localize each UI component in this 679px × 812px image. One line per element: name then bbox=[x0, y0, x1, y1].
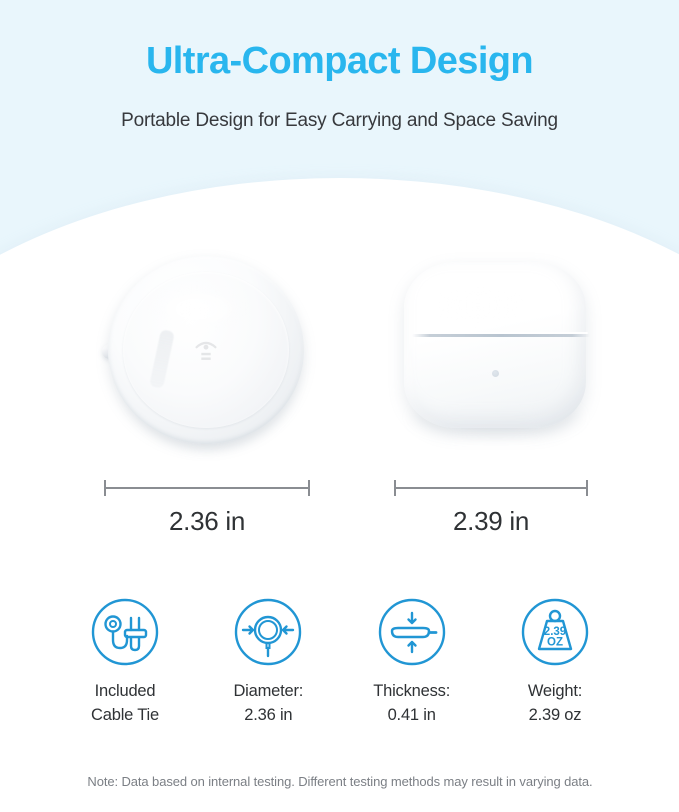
feature-label-line2: Cable Tie bbox=[91, 704, 159, 728]
feature-item-diameter: Diameter: 2.36 in bbox=[203, 596, 333, 728]
dimension-charger-width: 2.36 in bbox=[104, 480, 310, 540]
feature-label-line1: Thickness: bbox=[373, 680, 450, 704]
dimension-case-width: 2.39 in bbox=[394, 480, 588, 540]
feature-item-thickness: Thickness: 0.41 in bbox=[347, 596, 477, 728]
thickness-icon bbox=[376, 596, 448, 668]
wireless-charging-pad bbox=[108, 250, 308, 450]
feature-item-cable-tie: Included Cable Tie bbox=[60, 596, 190, 728]
dimension-line bbox=[394, 487, 588, 489]
diameter-icon bbox=[232, 596, 304, 668]
feature-label-line2: 2.39 oz bbox=[528, 704, 582, 728]
product-feature-page: Ultra-Compact Design Portable Design for… bbox=[0, 0, 679, 812]
dimension-bar bbox=[104, 480, 310, 496]
feature-label: Diameter: 2.36 in bbox=[233, 680, 303, 728]
pad-side-marking bbox=[149, 329, 175, 389]
feature-label: Included Cable Tie bbox=[91, 680, 159, 728]
feature-label: Weight: 2.39 oz bbox=[528, 680, 582, 728]
weight-badge-bottom: OZ bbox=[547, 637, 563, 649]
feature-spec-row: Included Cable Tie Diameter: 2.36 in bbox=[60, 596, 620, 728]
feature-label-line1: Diameter: bbox=[233, 680, 303, 704]
dimension-value: 2.36 in bbox=[104, 506, 310, 537]
page-subtitle: Portable Design for Easy Carrying and Sp… bbox=[0, 110, 679, 132]
product-stage bbox=[0, 240, 679, 470]
feature-item-weight: 2.39 OZ Weight: 2.39 oz bbox=[490, 596, 620, 728]
status-led-icon bbox=[492, 370, 499, 377]
dimension-cap-right bbox=[586, 480, 588, 496]
dimension-bar bbox=[394, 480, 588, 496]
feature-label: Thickness: 0.41 in bbox=[373, 680, 450, 728]
case-highlight bbox=[432, 288, 524, 322]
feature-label-line1: Included bbox=[91, 680, 159, 704]
dimension-line bbox=[104, 487, 310, 489]
feature-label-line2: 2.36 in bbox=[233, 704, 303, 728]
footnote-disclaimer: Note: Data based on internal testing. Di… bbox=[70, 772, 610, 792]
cable-tie-icon bbox=[89, 596, 161, 668]
anker-logo bbox=[191, 335, 221, 365]
dimension-cap-right bbox=[308, 480, 310, 496]
pad-top-face bbox=[123, 272, 289, 428]
feature-label-line1: Weight: bbox=[528, 680, 582, 704]
case-lid-seam bbox=[412, 334, 590, 337]
feature-label-line2: 0.41 in bbox=[373, 704, 450, 728]
page-title: Ultra-Compact Design bbox=[0, 40, 679, 84]
weight-icon: 2.39 OZ bbox=[519, 596, 591, 668]
earbuds-charging-case bbox=[398, 246, 594, 452]
pad-highlight bbox=[149, 286, 245, 332]
pad-body bbox=[108, 256, 304, 444]
case-body bbox=[404, 262, 586, 428]
dimension-value: 2.39 in bbox=[394, 506, 588, 537]
